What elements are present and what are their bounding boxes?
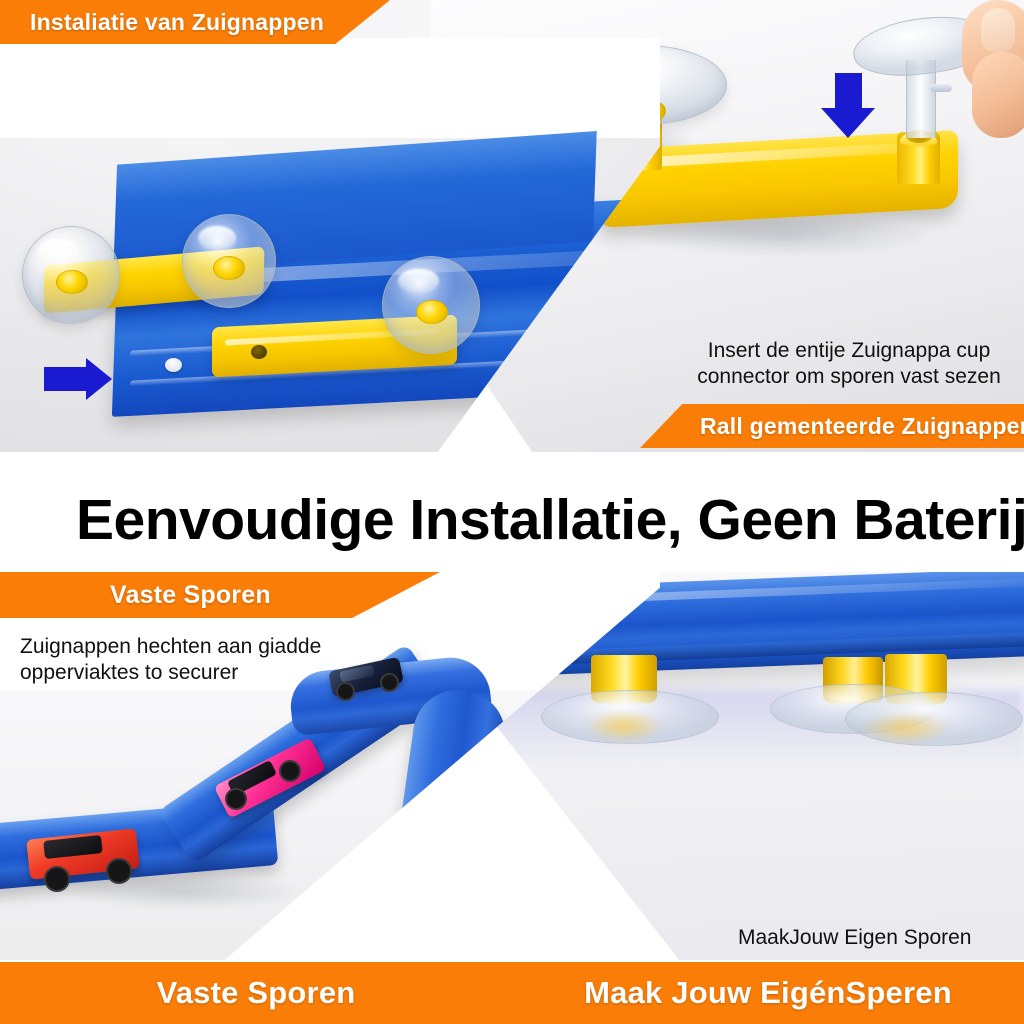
track-peg-hole: [165, 358, 182, 372]
suction-cup-right-neck: [416, 300, 448, 324]
ribbon-top-right-label: Rall gementeerde Zuignappen: [700, 413, 1024, 440]
top-right-caption: Insert de entije Zuignappa cup connector…: [684, 338, 1014, 389]
ribbon-bottom-left-top-label: Vaste Sporen: [110, 581, 271, 610]
insert-cup-prong: [930, 84, 952, 92]
top-right-caption-line1: Insert de entije Zuignappa cup: [684, 338, 1014, 364]
hand-finger-lower: [972, 52, 1024, 138]
bottom-left-caption-line1: Zuignappen hechten aan giadde: [20, 634, 321, 660]
mount-foot-2-reflection: [860, 712, 950, 744]
ribbon-top-left-label: Instaliatie van Zuignappen: [30, 9, 324, 36]
fingernail: [981, 8, 1015, 52]
connector-front-hole: [251, 345, 267, 359]
mount-foot-1-reflection: [585, 710, 663, 742]
ribbon-bottom-left: Vaste Sporen: [0, 962, 512, 1024]
ribbon-top-left: Instaliatie van Zuignappen: [0, 0, 390, 44]
ribbon-top-right: Rall gementeerde Zuignappen: [640, 404, 1024, 448]
top-right-caption-line2: connector om sporen vast sezen: [684, 364, 1014, 390]
suction-cup-center-neck: [213, 256, 245, 280]
bottom-right-caption-text: MaakJouw Eigen Sporen: [738, 925, 971, 951]
top-left-white-strip: [0, 38, 660, 138]
suction-cup-left-neck: [56, 270, 88, 294]
bottom-left-caption-line2: opperviaktes to securer: [20, 660, 321, 686]
ribbon-bottom-right: Maak Jouw EigénSperen: [512, 962, 1024, 1024]
page-headline: Eenvoudige Installatie, Geen Baterijes: [0, 487, 1024, 553]
product-infographic: Insert de entije Zuignappa cup connector…: [0, 0, 1024, 1024]
bottom-left-caption: Zuignappen hechten aan giadde opperviakt…: [20, 634, 321, 685]
ribbon-bottom-left-label: Vaste Sporen: [157, 975, 356, 1011]
ribbon-bottom-right-label: Maak Jouw EigénSperen: [584, 975, 952, 1011]
